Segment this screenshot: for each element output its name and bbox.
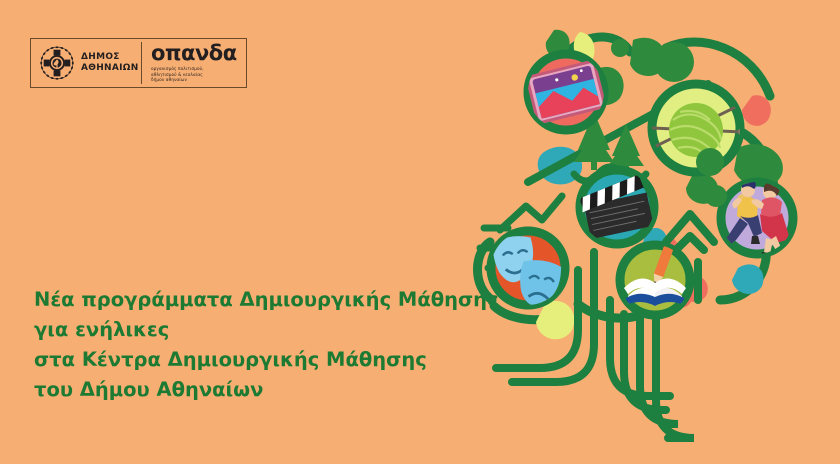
promotional-banner: ΔΗΜΟΣ ΑΘΗΝΑΙΩΝ οπανδα οργανισμός πολιτισ… bbox=[0, 0, 840, 464]
leaf-icon bbox=[742, 95, 771, 126]
municipality-name: ΔΗΜΟΣ ΑΘΗΝΑΙΩΝ bbox=[81, 52, 139, 74]
film-clapperboard-icon bbox=[575, 170, 654, 244]
opanda-wordmark: οπανδα bbox=[151, 43, 237, 63]
opanda-tagline: οργανισμός πολιτισμού, αθλητισμού & νεολ… bbox=[151, 66, 237, 83]
logo-lockup: ΔΗΜΟΣ ΑΘΗΝΑΙΩΝ οπανδα οργανισμός πολιτισ… bbox=[30, 38, 247, 88]
tablet-painting-icon bbox=[525, 54, 607, 130]
theater-masks-icon bbox=[491, 231, 565, 308]
page-title: Νέα προγράμματα Δημιουργικής Μάθησης για… bbox=[34, 285, 504, 405]
municipality-logo: ΔΗΜΟΣ ΑΘΗΝΑΙΩΝ bbox=[31, 44, 141, 82]
creative-learning-tree-illustration bbox=[470, 0, 840, 464]
book-pencil-icon bbox=[620, 238, 690, 315]
leaf-icon bbox=[732, 264, 763, 294]
opanda-logo: οπανδα οργανισμός πολιτισμού, αθλητισμού… bbox=[142, 43, 237, 83]
athens-municipality-seal-icon bbox=[38, 44, 76, 82]
dancing-couple-icon bbox=[718, 179, 793, 258]
